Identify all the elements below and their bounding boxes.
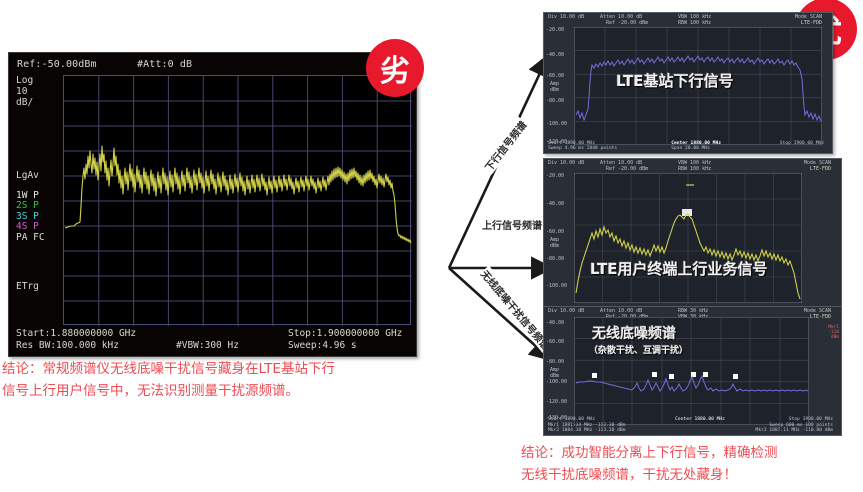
noise-caption-sub: （杂散干扰、互调干扰） <box>589 343 688 356</box>
uplink-ytick-3: -80.00 <box>546 256 564 262</box>
detector-label: LgAv <box>16 171 45 182</box>
noise-ytick-3: -100.00 <box>546 379 567 385</box>
uplink-rbw-label: RBW 100 kHz <box>678 167 711 173</box>
noise-yaxis-title: AmpdBm <box>550 367 559 379</box>
analyzer-footer-row-1: Start:1.880000000 GHz Stop:1.900000000 G… <box>16 328 411 340</box>
noise-footer: Start 1890.00 MHz Center 1880.00 MHz Sto… <box>548 417 837 433</box>
conclusion-left-line-1: 结论：常规频谱仪无线底噪干扰信号藏身在LTE基站下行 <box>2 358 335 380</box>
uplink-ytick-4: -100.00 <box>546 283 567 289</box>
left-spectrum-svg <box>64 76 412 326</box>
downlink-caption: LTE基站下行信号 <box>616 70 734 91</box>
uplink-ref-label: Ref -20.00 dBm <box>606 167 648 173</box>
noise-mode2-label: LTE-FDD <box>810 315 831 321</box>
uplink-ytick-2: -60.00 <box>546 229 564 235</box>
downlink-footer: Start 1890.00 MHz Center 1880.00 MHz Sto… <box>548 141 828 151</box>
analyzer-scale-column: Log 10 dB/ <box>16 75 62 108</box>
uplink-spectrum-panel: Div 10.00 dB Atten 10.00 dB Ref -20.00 d… <box>543 158 842 306</box>
uplink-header: Div 10.00 dB Atten 10.00 dB Ref -20.00 d… <box>548 161 837 172</box>
noise-div-label: Div 10.00 dB <box>548 309 584 315</box>
conclusion-right-line-2: 无线干扰底噪频谱，干扰无处藏身！ <box>521 464 778 486</box>
downlink-ytick-3: -80.00 <box>546 98 564 104</box>
trace-2-label: 2S P <box>16 201 45 212</box>
uplink-caption: LTE用户终端上行业务信号 <box>590 258 768 279</box>
conclusion-right-line-1: 结论：成功智能分离上下行信号，精确检测 <box>521 442 778 464</box>
noise-mkr-row-1: Mkr2 1884.10 MHz -113.20 dBm <box>548 428 625 433</box>
downlink-ytick-2: -60.00 <box>546 73 564 79</box>
start-freq-label: Start:1.880000000 GHz <box>16 328 136 340</box>
screenshot-root: Ref:-50.00dBm #Att:0 dB Log 10 dB/ LgAv … <box>0 0 863 492</box>
downlink-spectrum-panel: Div 10.00 dB Atten 10.00 dB Ref -20.00 d… <box>543 12 833 154</box>
res-bw-label: Res BW:100.000 kHz <box>16 340 119 352</box>
downlink-ref-label: Ref -20.00 dBm <box>606 21 648 27</box>
sweep-time-label: Sweep:4.96 s <box>288 340 357 352</box>
noise-floor-spectrum-panel: Div 10.00 dB Atten 10.00 dB Ref -20.00 d… <box>543 306 842 436</box>
noise-ytick-0: -40.00 <box>546 320 564 326</box>
arrow-label-uplink: 上行信号频谱 <box>481 217 543 232</box>
uplink-yaxis-title: AmpdBm <box>550 237 559 249</box>
uplink-mode2-label: LTE-FDD <box>810 167 831 173</box>
downlink-ytick-4: -100.00 <box>546 121 567 127</box>
ref-level-label: Ref:-50.00dBm <box>17 59 97 70</box>
scale-unit: dB/ <box>16 97 62 108</box>
noise-ytick-1: -60.00 <box>546 339 564 345</box>
downlink-span-label: Span 20.00 MHz <box>671 146 710 151</box>
trace-4-label: 4S P <box>16 222 45 233</box>
conventional-spectrum-analyzer-screen: Ref:-50.00dBm #Att:0 dB Log 10 dB/ LgAv … <box>8 52 417 357</box>
uplink-ytick-1: -40.00 <box>546 201 564 207</box>
noise-ytick-4: -120.00 <box>546 399 567 405</box>
downlink-sweep-label: Sweep 4.96 ms 2048 points <box>548 146 617 151</box>
noise-mkr-row-2: Mkr3 1887.11 MHz -110.80 dBm <box>756 428 833 433</box>
external-trigger-label: ETrg <box>16 281 39 292</box>
conclusion-left: 结论：常规频谱仪无线底噪干扰信号藏身在LTE基站下行 信号上行用户信号中，无法识… <box>2 358 335 402</box>
noise-caption: 无线底噪频谱 <box>592 323 676 343</box>
scale-value: 10 <box>16 86 62 97</box>
pa-fc-label: PA FC <box>16 233 45 244</box>
conclusion-left-line-2: 信号上行用户信号中，无法识别测量干扰源频谱。 <box>2 380 335 402</box>
badge-inferior: 劣 <box>366 39 424 97</box>
analyzer-trace-legend: LgAv 1W P 2S P 3S P 4S P PA FC <box>16 171 45 243</box>
attenuation-label: #Att:0 dB <box>137 59 192 70</box>
scale-log: Log <box>16 75 62 86</box>
downlink-div-label: Div 10.00 dB <box>548 15 584 21</box>
uplink-div-label: Div 10.00 dB <box>548 161 584 167</box>
analyzer-header: Ref:-50.00dBm #Att:0 dB <box>17 59 410 72</box>
downlink-header: Div 10.00 dB Atten 10.00 dB Ref -20.00 d… <box>548 15 828 26</box>
downlink-ytick-0: -20.00 <box>546 27 564 33</box>
noise-ytick-2: -80.00 <box>546 359 564 365</box>
conclusion-right: 结论：成功智能分离上下行信号，精确检测 无线干扰底噪频谱，干扰无处藏身！ <box>521 442 778 486</box>
downlink-rbw-label: RBW 100 kHz <box>678 21 711 27</box>
left-spectrum-plot <box>63 75 411 325</box>
noise-marker-note: Mkr1-110dBm <box>828 325 839 340</box>
analyzer-footer: Start:1.880000000 GHz Stop:1.900000000 G… <box>16 328 411 352</box>
analyzer-footer-row-2: Res BW:100.000 kHz #VBW:300 Hz Sweep:4.9… <box>16 340 411 352</box>
uplink-ytick-0: -20.00 <box>546 173 564 179</box>
downlink-ytick-1: -40.00 <box>546 52 564 58</box>
stop-freq-label: Stop:1.900000000 GHz <box>288 328 402 340</box>
downlink-yaxis-title: AmpdBm <box>550 81 559 93</box>
uplink-plot <box>574 173 802 303</box>
vbw-label: #VBW:300 Hz <box>176 340 239 352</box>
left-grid-lines <box>64 76 412 326</box>
downlink-mode2-label: LTE-FDD <box>801 21 822 27</box>
